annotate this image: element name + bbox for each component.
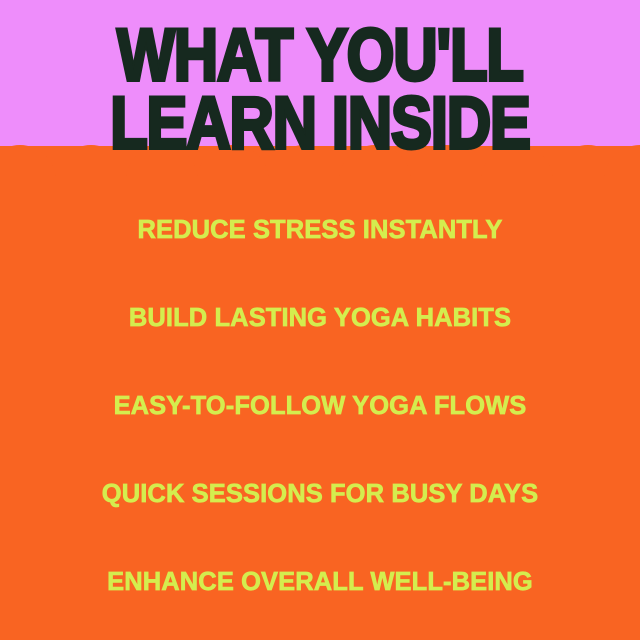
benefit-label: REDUCE STRESS INSTANTLY: [137, 216, 502, 245]
list-item: ENHANCE OVERALL WELL-BEING: [0, 538, 640, 626]
scalloped-divider-icon: [0, 140, 640, 186]
list-item: QUICK SESSIONS FOR BUSY DAYS: [0, 450, 640, 538]
benefit-label: BUILD LASTING YOGA HABITS: [129, 304, 511, 333]
list-item: REDUCE STRESS INSTANTLY: [0, 186, 640, 274]
benefits-list: REDUCE STRESS INSTANTLY BUILD LASTING YO…: [0, 186, 640, 640]
benefit-label: ENHANCE OVERALL WELL-BEING: [107, 568, 533, 597]
header-background: [0, 0, 640, 146]
benefit-label: EASY-TO-FOLLOW YOGA FLOWS: [114, 392, 527, 421]
list-item: BUILD LASTING YOGA HABITS: [0, 274, 640, 362]
list-item: EASY-TO-FOLLOW YOGA FLOWS: [0, 362, 640, 450]
benefit-label: QUICK SESSIONS FOR BUSY DAYS: [102, 480, 538, 509]
promo-poster: WHAT YOU'LL LEARN INSIDE REDUCE STRESS I…: [0, 0, 640, 640]
